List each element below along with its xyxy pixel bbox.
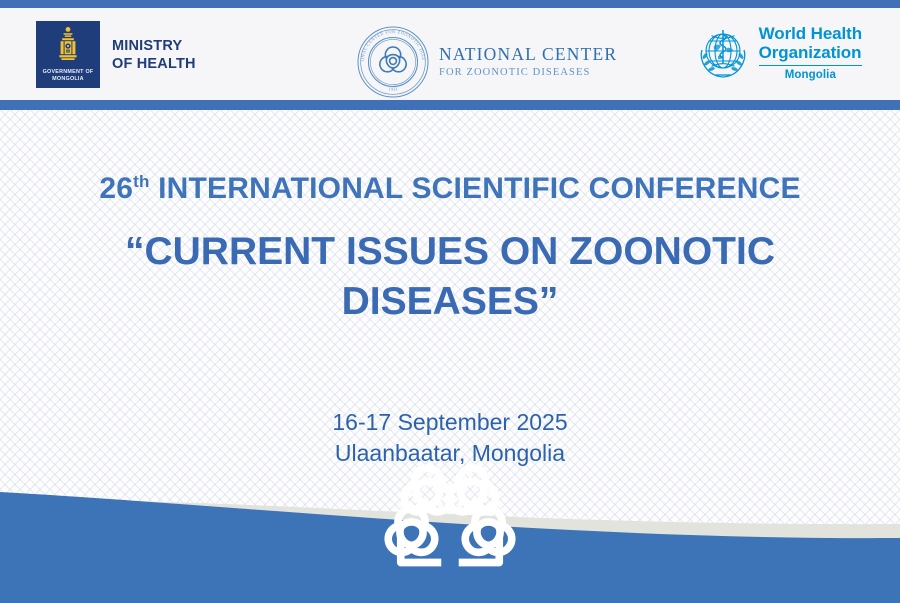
mongolian-ulzii-knot-ornament-icon	[0, 450, 884, 585]
conference-ordinal: th	[133, 172, 149, 191]
slide-main-content: 26th INTERNATIONAL SCIENTIFIC CONFERENCE…	[0, 110, 900, 469]
conference-title-slide: GOVERNMENT OF MONGOLIA MINISTRY OF HEALT…	[0, 0, 900, 603]
conference-heading-text: INTERNATIONAL SCIENTIFIC CONFERENCE	[150, 172, 801, 205]
who-logo: World Health Organization Mongolia	[694, 24, 862, 86]
national-center-logo: NATIONAL CENTER FOR ZOONOTIC DISEASES 19…	[352, 23, 617, 101]
national-center-line1: NATIONAL CENTER	[439, 46, 617, 64]
biohazard-seal-icon: NATIONAL CENTER FOR ZOONOTIC DISEASES 19…	[352, 23, 434, 101]
conference-heading: 26th INTERNATIONAL SCIENTIFIC CONFERENCE	[0, 172, 900, 206]
svg-text:1931: 1931	[388, 87, 398, 92]
who-name-line1: World Health	[759, 24, 862, 43]
ministry-of-health-logo: GOVERNMENT OF MONGOLIA MINISTRY OF HEALT…	[36, 21, 196, 88]
who-name-line2: Organization	[759, 43, 862, 62]
national-center-line2: FOR ZOONOTIC DISEASES	[439, 68, 617, 79]
conference-number: 26	[99, 172, 133, 205]
logo-row: GOVERNMENT OF MONGOLIA MINISTRY OF HEALT…	[0, 8, 900, 100]
emblem-caption: GOVERNMENT OF MONGOLIA	[36, 69, 100, 88]
conference-date: 16-17 September 2025	[0, 407, 900, 438]
mongolian-soyombo-emblem-icon	[51, 26, 85, 68]
mongolia-government-emblem: GOVERNMENT OF MONGOLIA	[36, 21, 100, 88]
ministry-of-health-name: MINISTRY OF HEALTH	[112, 37, 196, 73]
footer-wave-decoration	[0, 468, 900, 603]
who-laurel-rod-of-asclepius-icon	[694, 24, 752, 86]
header-bottom-accent-bar	[0, 100, 900, 110]
top-accent-bar	[0, 0, 900, 8]
who-country: Mongolia	[759, 69, 862, 81]
conference-theme: “CURRENT ISSUES ON ZOONOTIC DISEASES”	[0, 227, 900, 327]
who-divider	[759, 65, 862, 67]
emblem-caption-line1: GOVERNMENT OF	[43, 69, 94, 75]
emblem-caption-line2: MONGOLIA	[52, 76, 84, 82]
